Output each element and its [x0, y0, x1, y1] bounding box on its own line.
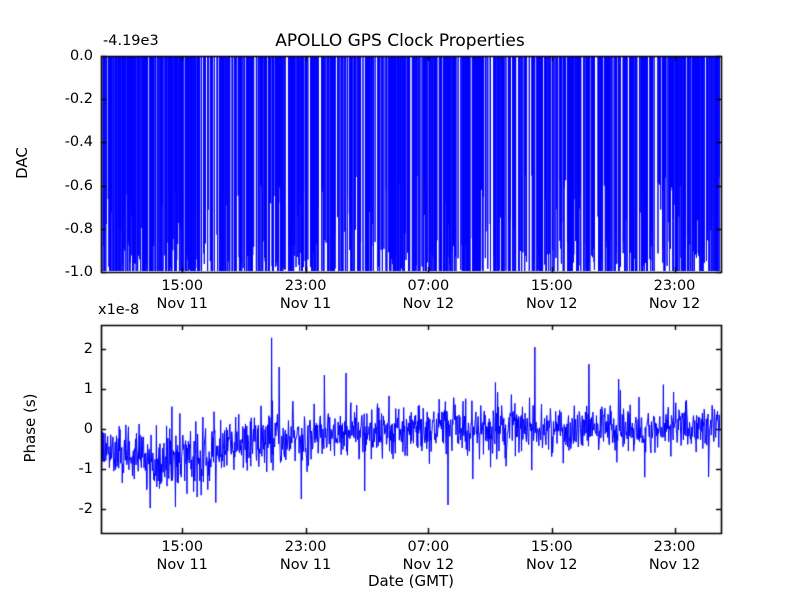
matplotlib-figure: APOLLO GPS Clock Properties -4.19e3 DAC …	[0, 0, 800, 600]
dac-axis-offset-label: -4.19e3	[103, 33, 159, 49]
page-title: APOLLO GPS Clock Properties	[275, 31, 525, 51]
xtick-time-1-2: 07:00	[407, 539, 449, 555]
xtick-date-0-4: Nov 12	[649, 296, 700, 312]
xtick-time-0-1: 23:00	[285, 278, 327, 294]
phase-axis-x-label: Date (GMT)	[368, 572, 454, 590]
xtick-time-0-4: 23:00	[654, 278, 696, 294]
xtick-time-1-0: 15:00	[161, 539, 203, 555]
xtick-time-0-2: 07:00	[407, 278, 449, 294]
xtick-date-1-1: Nov 11	[280, 557, 331, 573]
xtick-date-1-2: Nov 12	[403, 557, 454, 573]
ytick-label-0-4: -0.8	[65, 221, 93, 237]
ytick-label-0-1: -0.2	[65, 91, 93, 107]
ytick-label-0-0: 0.0	[70, 48, 93, 64]
dac-axis-y-label: DAC	[13, 147, 31, 179]
xtick-time-1-4: 23:00	[654, 539, 696, 555]
ytick-label-1-3: -1	[79, 461, 93, 477]
ytick-label-0-3: -0.6	[65, 178, 93, 194]
ytick-label-1-0: 2	[84, 341, 93, 357]
xtick-date-0-2: Nov 12	[403, 296, 454, 312]
xtick-date-1-0: Nov 11	[157, 557, 208, 573]
phase-axis-offset-label: x1e-8	[98, 302, 139, 318]
ytick-label-1-2: 0	[84, 421, 93, 437]
xtick-time-0-3: 15:00	[531, 278, 573, 294]
ytick-label-1-1: 1	[84, 381, 93, 397]
ytick-label-1-4: -2	[79, 501, 93, 517]
ytick-label-0-2: -0.4	[65, 134, 93, 150]
xtick-date-0-0: Nov 11	[157, 296, 208, 312]
xtick-time-1-1: 23:00	[285, 539, 327, 555]
xtick-date-0-1: Nov 11	[280, 296, 331, 312]
xtick-time-0-0: 15:00	[161, 278, 203, 294]
xtick-date-0-3: Nov 12	[526, 296, 577, 312]
ytick-label-0-5: -1.0	[65, 264, 93, 280]
xtick-date-1-4: Nov 12	[649, 557, 700, 573]
phase-axis-y-label: Phase (s)	[21, 393, 39, 462]
xtick-time-1-3: 15:00	[531, 539, 573, 555]
xtick-date-1-3: Nov 12	[526, 557, 577, 573]
